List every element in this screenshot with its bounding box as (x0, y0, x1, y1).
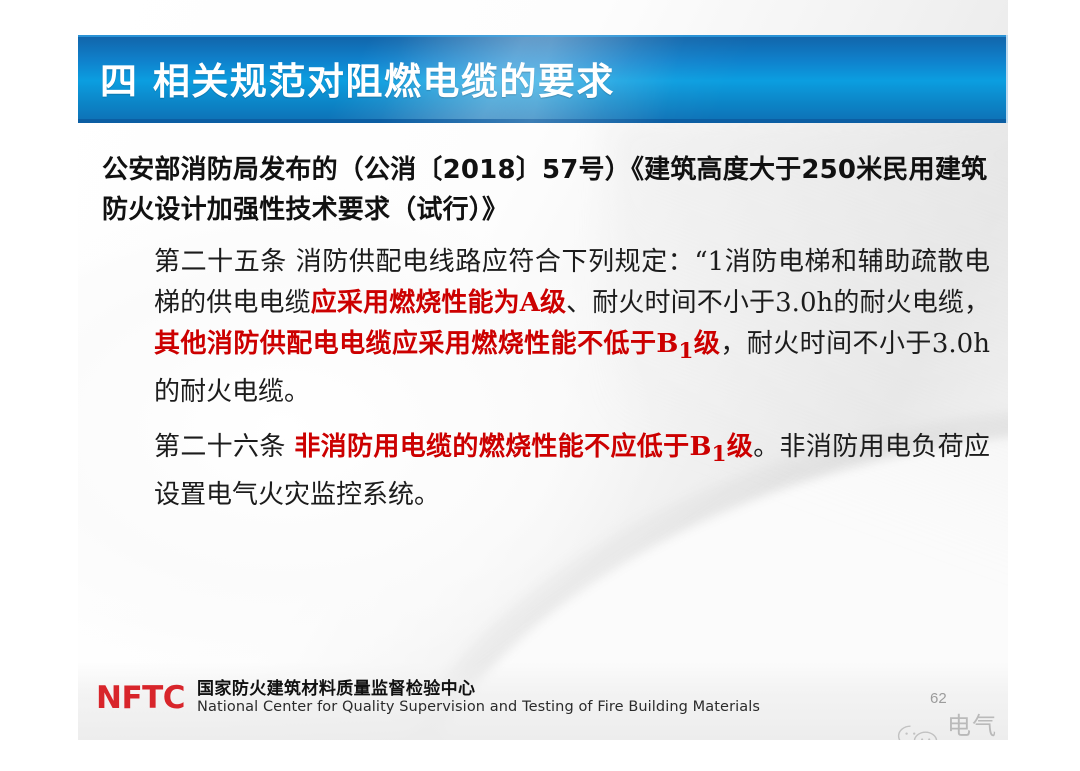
article-25-seg-5: 级 (693, 329, 720, 359)
wechat-watermark: 电气分会 (896, 706, 1008, 740)
organization-name-en: National Center for Quality Supervision … (197, 699, 760, 715)
brand-text-block: 国家防火建筑材料质量监督检验中心 National Center for Qua… (197, 680, 760, 715)
nftc-logo-mark: NFTC (96, 680, 185, 716)
page-number: 62 (930, 690, 947, 707)
article-25-seg-3: 其他消防供配电电缆应采用燃烧性能不低于B (154, 329, 678, 359)
footer-brand: NFTC 国家防火建筑材料质量监督检验中心 National Center fo… (96, 680, 760, 716)
wechat-icon (896, 723, 940, 741)
lead-paragraph: 公安部消防局发布的（公消〔2018〕57号）《建筑高度大于250米民用建筑防火设… (102, 150, 990, 230)
article-26-paragraph: 第二十六条 非消防用电缆的燃烧性能不应低于B1级。非消防用电负荷应设置电气火灾监… (102, 427, 990, 516)
article-26-seg-3: 级 (727, 432, 754, 462)
page-title: 四 相关规范对阻燃电缆的要求 (100, 51, 615, 105)
watermark-label: 电气分会 (947, 706, 1008, 740)
slide-canvas: 四 相关规范对阻燃电缆的要求 公安部消防局发布的（公消〔2018〕57号）《建筑… (78, 0, 1008, 740)
article-26-seg-0: 第二十六条 (154, 432, 294, 462)
article-25-seg-4-subscript: 1 (678, 339, 693, 364)
article-25-seg-1: 应采用燃烧性能为A级 (311, 288, 566, 318)
article-26-seg-2-subscript: 1 (711, 442, 726, 467)
title-banner: 四 相关规范对阻燃电缆的要求 (78, 35, 1008, 123)
article-26-seg-1: 非消防用电缆的燃烧性能不应低于B (294, 432, 711, 462)
organization-name-cn: 国家防火建筑材料质量监督检验中心 (197, 680, 760, 699)
article-25-seg-2: 、耐火时间不小于3.0h的耐火电缆， (566, 288, 990, 318)
slide-body: 公安部消防局发布的（公消〔2018〕57号）《建筑高度大于250米民用建筑防火设… (102, 150, 990, 516)
article-25-paragraph: 第二十五条 消防供配电线路应符合下列规定：“1消防电梯和辅助疏散电梯的供电电缆应… (102, 242, 990, 413)
